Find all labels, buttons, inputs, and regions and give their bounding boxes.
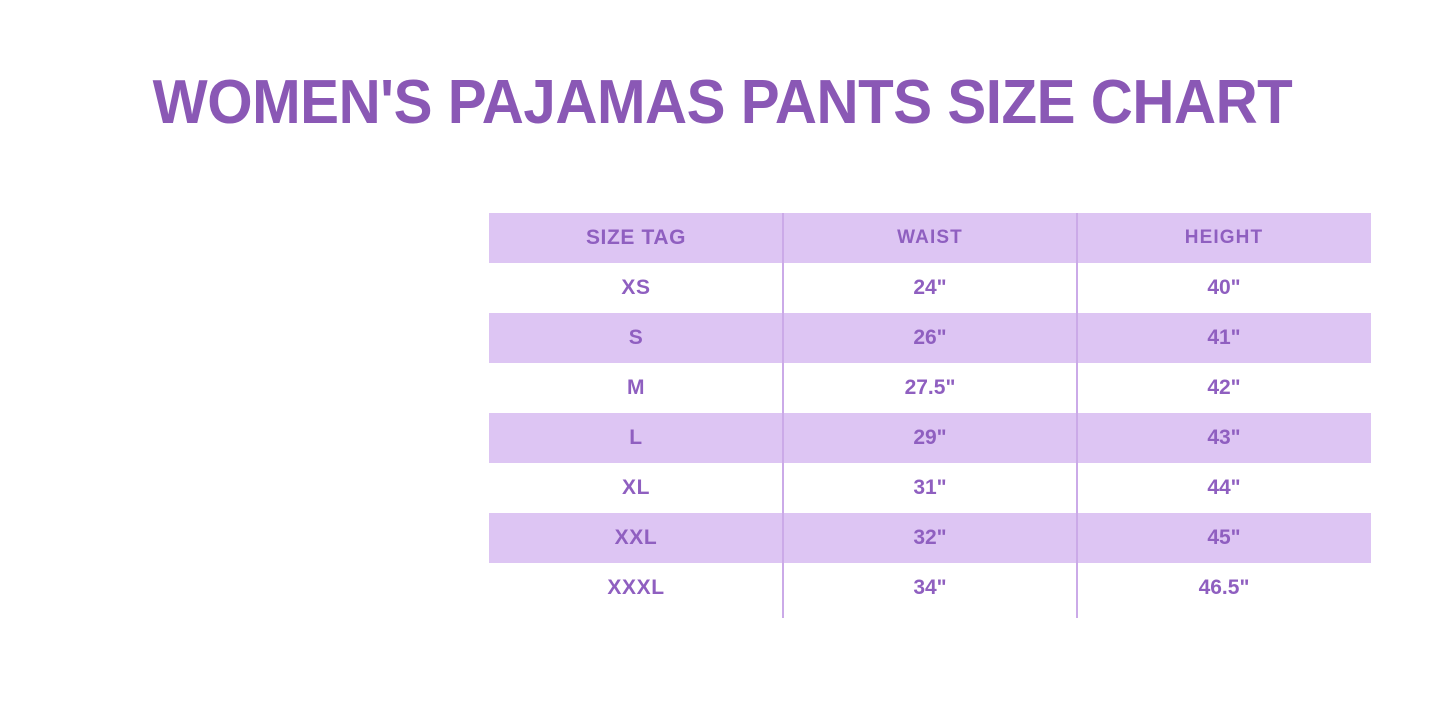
cell-height: 42" xyxy=(1077,363,1371,413)
column-header-size-tag: SIZE TAG xyxy=(489,213,783,263)
table-row: L 29" 43" xyxy=(489,413,1371,463)
cell-height: 45" xyxy=(1077,513,1371,563)
cell-waist: 27.5" xyxy=(783,363,1077,413)
cell-waist: 24" xyxy=(783,263,1077,313)
table-header-row: SIZE TAG WAIST HEIGHT xyxy=(489,213,1371,263)
cell-size-tag: XS xyxy=(489,263,783,313)
cell-size-tag: XXL xyxy=(489,513,783,563)
cell-waist: 31" xyxy=(783,463,1077,513)
cell-waist: 26" xyxy=(783,313,1077,363)
table-header: SIZE TAG WAIST HEIGHT xyxy=(489,213,1371,263)
table-row: XXXL 34" 46.5" xyxy=(489,563,1371,613)
table-row: M 27.5" 42" xyxy=(489,363,1371,413)
cell-size-tag: XXXL xyxy=(489,563,783,613)
column-header-height: HEIGHT xyxy=(1077,213,1371,263)
cell-size-tag: S xyxy=(489,313,783,363)
table-row: XS 24" 40" xyxy=(489,263,1371,313)
size-chart-page: WOMEN'S PAJAMAS PANTS SIZE CHART SIZE TA… xyxy=(0,0,1445,723)
column-header-waist: WAIST xyxy=(783,213,1077,263)
table-body: XS 24" 40" S 26" 41" M 27.5" 42" L 29" xyxy=(489,263,1371,613)
cell-height: 43" xyxy=(1077,413,1371,463)
cell-waist: 29" xyxy=(783,413,1077,463)
table-row: S 26" 41" xyxy=(489,313,1371,363)
cell-height: 44" xyxy=(1077,463,1371,513)
cell-size-tag: XL xyxy=(489,463,783,513)
column-divider-line xyxy=(1076,213,1078,618)
size-chart-table-container: SIZE TAG WAIST HEIGHT XS 24" 40" S 26" 4… xyxy=(489,213,1371,613)
column-divider-line xyxy=(782,213,784,618)
cell-height: 40" xyxy=(1077,263,1371,313)
cell-size-tag: M xyxy=(489,363,783,413)
cell-waist: 32" xyxy=(783,513,1077,563)
table-row: XL 31" 44" xyxy=(489,463,1371,513)
cell-waist: 34" xyxy=(783,563,1077,613)
page-title: WOMEN'S PAJAMAS PANTS SIZE CHART xyxy=(43,66,1401,140)
cell-height: 46.5" xyxy=(1077,563,1371,613)
size-chart-table: SIZE TAG WAIST HEIGHT XS 24" 40" S 26" 4… xyxy=(489,213,1371,613)
table-row: XXL 32" 45" xyxy=(489,513,1371,563)
cell-size-tag: L xyxy=(489,413,783,463)
cell-height: 41" xyxy=(1077,313,1371,363)
